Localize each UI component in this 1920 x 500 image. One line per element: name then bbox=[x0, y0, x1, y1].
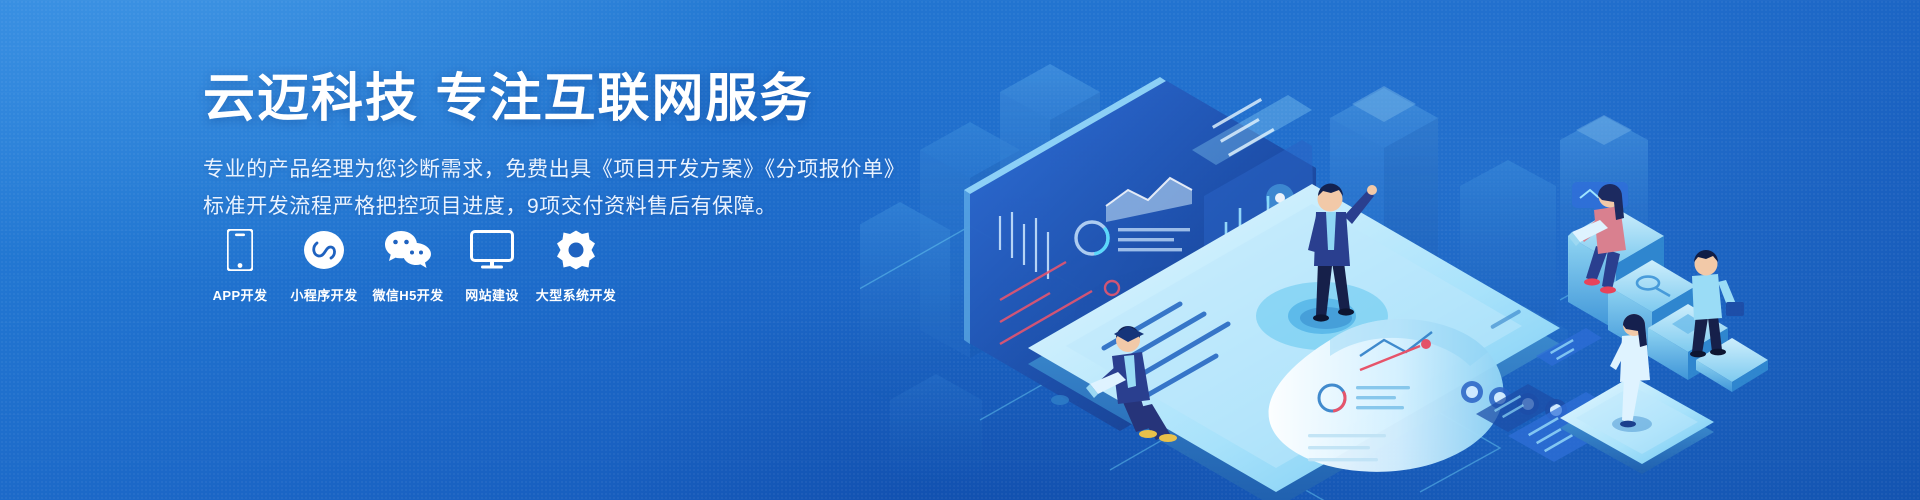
walking-man-briefcase bbox=[1690, 250, 1744, 357]
step-blocks bbox=[1568, 208, 1768, 392]
dashboard-screen bbox=[964, 77, 1316, 431]
service-label: 大型系统开发 bbox=[536, 285, 616, 304]
background-buildings bbox=[860, 64, 1648, 496]
hero-banner: 云迈科技 专注互联网服务 专业的产品经理为您诊断需求，免费出具《项目开发方案》《… bbox=[0, 0, 1920, 500]
service-item-wechat-h5[interactable]: 微信H5开发 bbox=[371, 228, 445, 304]
sitting-woman-laptop bbox=[1568, 184, 1626, 294]
service-label: APP开发 bbox=[213, 285, 268, 304]
mini-program-icon bbox=[303, 228, 345, 272]
small-tablet-platform bbox=[1560, 376, 1714, 474]
subtitle-line-1: 专业的产品经理为您诊断需求，免费出具《项目开发方案》《分项报价单》 bbox=[203, 152, 903, 189]
chat-bubble bbox=[1572, 182, 1628, 218]
isometric-tech-illustration bbox=[860, 0, 1920, 500]
service-label: 微信H5开发 bbox=[372, 285, 443, 304]
page-title: 云迈科技 专注互联网服务 bbox=[203, 68, 903, 130]
service-item-large-system[interactable]: 大型系统开发 bbox=[539, 228, 613, 304]
mini-screens bbox=[1476, 328, 1602, 432]
service-label: 小程序开发 bbox=[290, 285, 357, 304]
banner-subtitle: 专业的产品经理为您诊断需求，免费出具《项目开发方案》《分项报价单》 标准开发流程… bbox=[203, 152, 903, 226]
data-ribbon bbox=[1269, 319, 1567, 472]
monitor-icon bbox=[470, 228, 514, 272]
circuit-lines bbox=[860, 226, 1690, 500]
sitting-man-laptop bbox=[1086, 326, 1177, 442]
tablet-platform bbox=[1028, 184, 1560, 500]
magnifier-icon bbox=[1637, 277, 1670, 296]
standing-woman-tablet bbox=[1610, 314, 1652, 432]
banner-text-block: 云迈科技 专注互联网服务 专业的产品经理为您诊断需求，免费出具《项目开发方案》《… bbox=[203, 68, 903, 226]
service-item-website[interactable]: 网站建设 bbox=[455, 228, 529, 304]
subtitle-line-2: 标准开发流程严格把控项目进度，9项交付资料售后有保障。 bbox=[203, 189, 903, 226]
floating-data-panel bbox=[1508, 392, 1632, 462]
service-item-app[interactable]: APP开发 bbox=[203, 228, 277, 304]
standing-man-pointing bbox=[1300, 183, 1377, 329]
wechat-icon bbox=[384, 228, 432, 272]
service-item-mini-program[interactable]: 小程序开发 bbox=[287, 228, 361, 304]
gear-icon bbox=[556, 228, 596, 272]
mobile-phone-icon bbox=[227, 228, 253, 272]
service-label: 网站建设 bbox=[465, 285, 519, 304]
service-list: APP开发 小程序开发 微信 bbox=[203, 228, 613, 304]
